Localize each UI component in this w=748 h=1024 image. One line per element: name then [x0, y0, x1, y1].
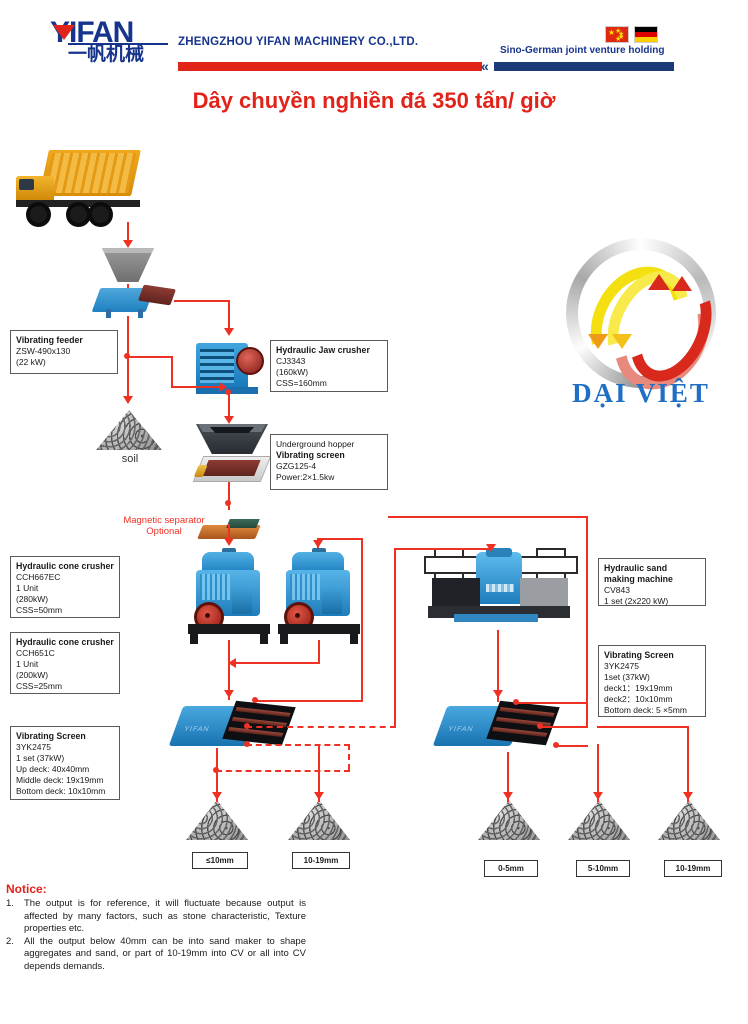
header-blue-bar [494, 62, 674, 71]
notice-number: 1. [6, 898, 24, 936]
tagline: Sino-German joint venture holding [500, 45, 664, 56]
magnetic-separator-label: Magnetic separatorOptional [112, 515, 216, 537]
box-line: deck2：10x10mm [604, 694, 673, 704]
flow-line [687, 726, 689, 802]
vibrating-screen-left-illustration: YIFAN [176, 700, 292, 756]
output-size-1: ≤10mm [192, 852, 248, 869]
output-size-2: 10-19mm [292, 852, 350, 869]
flow-line [318, 640, 320, 664]
box-title: Hydraulic cone crusher [16, 637, 114, 647]
cone-crusher-1-illustration [188, 548, 270, 648]
flow-line [255, 700, 363, 702]
logo-triangle-icon [53, 25, 75, 40]
output-pile-5 [658, 800, 720, 840]
box-line: CSS=25mm [16, 681, 62, 691]
recirculation-line [246, 744, 350, 746]
recirculation-line [246, 726, 396, 728]
output-pile-4 [568, 800, 630, 840]
box-title: Hydraulic sand making machine [604, 563, 673, 584]
vibrating-feeder-illustration [96, 284, 176, 316]
notice-number: 2. [6, 936, 24, 974]
box-title: Vibrating Screen [16, 731, 86, 741]
flow-arrow-icon [224, 538, 234, 546]
flow-arrow-icon [224, 690, 234, 698]
box-title: Vibrating screen [276, 450, 345, 460]
output-size-3: 0-5mm [484, 860, 538, 877]
logo-arrow-down-1-icon [588, 334, 608, 349]
notice-heading: Notice: [6, 882, 306, 896]
box-cone-crusher-2: Hydraulic cone crusher CCH651C 1 Unit (2… [10, 632, 120, 694]
flow-arrow-icon [212, 792, 222, 800]
dai-viet-logo: DẠI VIỆT [556, 238, 726, 408]
output-size-5: 10-19mm [664, 860, 722, 877]
flow-junction [553, 742, 559, 748]
page-header: YIFAN 一帆机械 ZHENGZHOU YIFAN MACHINERY CO.… [0, 0, 748, 78]
box-title: Vibrating Screen [604, 650, 674, 660]
flow-arrow-icon [593, 792, 603, 800]
flow-line [586, 516, 588, 728]
box-line: Bottom deck: 5 ×5mm [604, 705, 687, 715]
flow-line [388, 516, 588, 518]
chevron-left-icon: « [481, 60, 489, 73]
china-flag-icon: ★ ★ ★ ★ ★ [605, 26, 629, 43]
yifan-logo: YIFAN 一帆机械 [50, 18, 170, 70]
flow-line [228, 300, 230, 330]
box-line: (22 kW) [16, 357, 46, 367]
flow-line [394, 548, 490, 550]
germany-flag-icon [634, 26, 658, 43]
notice-text: All the output below 40mm can be into sa… [24, 936, 306, 974]
flow-junction [244, 741, 250, 747]
box-underground-hopper: Underground hopper Vibrating screen GZG1… [270, 434, 388, 490]
notice-text: The output is for reference, it will flu… [24, 898, 306, 936]
flow-junction [225, 389, 231, 395]
flow-line [127, 356, 173, 358]
flow-line [127, 284, 129, 288]
flow-line [228, 662, 320, 664]
output-pile-1 [186, 800, 248, 840]
box-line: CCH651C [16, 648, 55, 658]
output-size-4: 5-10mm [576, 860, 630, 877]
flow-junction [537, 723, 543, 729]
flow-arrow-icon [313, 540, 323, 548]
flow-arrow-icon [493, 690, 503, 698]
flow-line [556, 745, 588, 747]
box-sand-making-machine: Hydraulic sand making machine CV843 1 se… [598, 558, 706, 606]
flow-line [516, 702, 588, 704]
box-line: 1 Unit [16, 659, 38, 669]
box-title: Hydraulic Jaw crusher [276, 345, 370, 355]
box-line: Middle deck: 19x19mm [16, 775, 103, 785]
box-title: Vibrating feeder [16, 335, 83, 345]
notice-section: Notice: 1. The output is for reference, … [6, 882, 306, 973]
flow-arrow-icon [123, 240, 133, 248]
dump-truck-illustration [14, 150, 140, 222]
header-red-bar [178, 62, 482, 71]
logo-arrow-up-2-icon [672, 276, 692, 291]
box-line: (200kW) [16, 670, 48, 680]
box-line: (280kW) [16, 594, 48, 604]
output-pile-3 [478, 800, 540, 840]
cone-crusher-2-illustration [278, 548, 360, 648]
box-line: CV843 [604, 585, 630, 595]
box-line: deck1：19x19mm [604, 683, 673, 693]
box-title: Hydraulic cone crusher [16, 561, 114, 571]
flow-line [361, 538, 363, 702]
box-line: GZG125-4 [276, 461, 316, 471]
box-line: ZSW-490x130 [16, 346, 70, 356]
flow-line [171, 356, 173, 388]
box-line: 1set (37kW) [604, 672, 650, 682]
flow-arrow-icon [314, 792, 324, 800]
box-line: 3YK2475 [604, 661, 639, 671]
flow-arrow-icon [224, 328, 234, 336]
flow-junction [513, 699, 519, 705]
logo-arrow-down-2-icon [612, 334, 632, 349]
flow-line [394, 548, 396, 728]
sand-making-machine-illustration [424, 548, 574, 634]
box-line: 1 set (37kW) [16, 753, 64, 763]
logo-chinese-name: 一帆机械 [68, 45, 144, 65]
feed-hopper-illustration [102, 248, 154, 286]
flow-line [317, 538, 363, 540]
flow-arrow-icon [228, 658, 236, 668]
flow-line [171, 386, 223, 388]
logo-arrow-up-1-icon [648, 274, 670, 290]
notice-item: 2. All the output below 40mm can be into… [6, 936, 306, 974]
box-line: 1 set (2x220 kW) [604, 596, 668, 606]
box-line: 3YK2475 [16, 742, 51, 752]
soil-pile-illustration [96, 410, 162, 450]
brand-name: DẠI VIỆT [556, 378, 726, 409]
box-line: Underground hopper [276, 439, 354, 449]
flow-arrow-icon [683, 792, 693, 800]
box-line: Power:2×1.5kw [276, 472, 334, 482]
box-line: Bottom deck: 10x10mm [16, 786, 105, 796]
flow-arrow-icon [224, 416, 234, 424]
box-line: CCH667EC [16, 572, 60, 582]
flow-line [597, 726, 689, 728]
flow-line [174, 300, 230, 302]
box-vibrating-feeder: Vibrating feeder ZSW-490x130 (22 kW) [10, 330, 118, 374]
box-line: CJ3343 [276, 356, 305, 366]
box-line: 1 Unit [16, 583, 38, 593]
box-cone-crusher-1: Hydraulic cone crusher CCH667EC 1 Unit (… [10, 556, 120, 618]
output-pile-2 [288, 800, 350, 840]
box-vibrating-screen-left: Vibrating Screen 3YK2475 1 set (37kW) Up… [10, 726, 120, 800]
company-name: ZHENGZHOU YIFAN MACHINERY CO.,LTD. [178, 36, 418, 48]
notice-item: 1. The output is for reference, it will … [6, 898, 306, 936]
flow-arrow-icon [503, 792, 513, 800]
flow-junction [244, 723, 250, 729]
gzg-vibrating-screen-illustration [193, 456, 272, 482]
box-jaw-crusher: Hydraulic Jaw crusher CJ3343 (160kW) CSS… [270, 340, 388, 392]
recirculation-line [348, 744, 350, 770]
box-line: Up deck: 40x40mm [16, 764, 89, 774]
flow-junction [225, 500, 231, 506]
box-line: CSS=160mm [276, 378, 327, 388]
flow-arrow-icon [486, 544, 496, 552]
soil-label: soil [100, 453, 160, 465]
box-line: CSS=50mm [16, 605, 62, 615]
box-line: (160kW) [276, 367, 308, 377]
page-title: Dây chuyền nghiền đá 350 tấn/ giờ [0, 88, 748, 114]
flow-junction [252, 697, 258, 703]
flow-arrow-icon [123, 396, 133, 404]
box-vibrating-screen-right: Vibrating Screen 3YK2475 1set (37kW) dec… [598, 645, 706, 717]
recirculation-line [216, 770, 350, 772]
flow-line [540, 726, 588, 728]
